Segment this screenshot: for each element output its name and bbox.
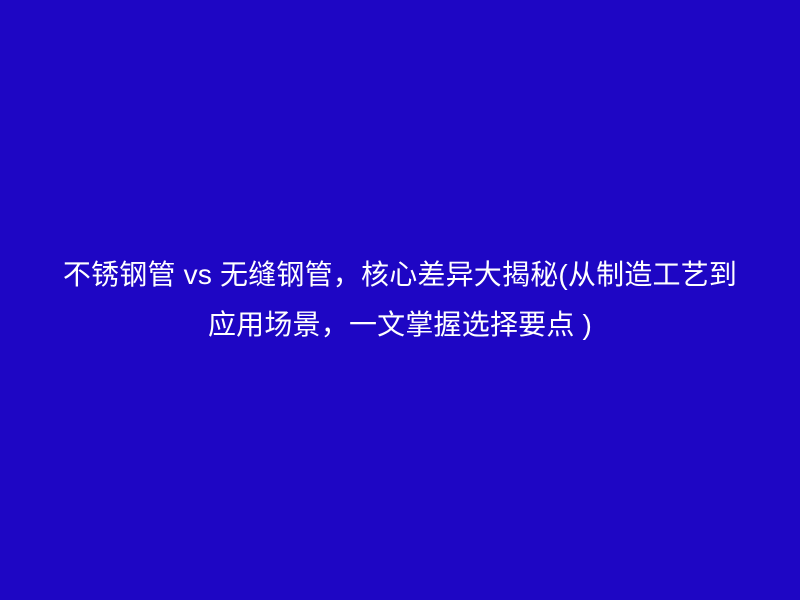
headline-block: 不锈钢管 vs 无缝钢管，核心差异大揭秘(从制造工艺到应用场景，一文掌握选择要点… xyxy=(55,250,745,350)
title-card-canvas: 不锈钢管 vs 无缝钢管，核心差异大揭秘(从制造工艺到应用场景，一文掌握选择要点… xyxy=(0,0,800,600)
page-title: 不锈钢管 vs 无缝钢管，核心差异大揭秘(从制造工艺到应用场景，一文掌握选择要点… xyxy=(55,250,745,350)
